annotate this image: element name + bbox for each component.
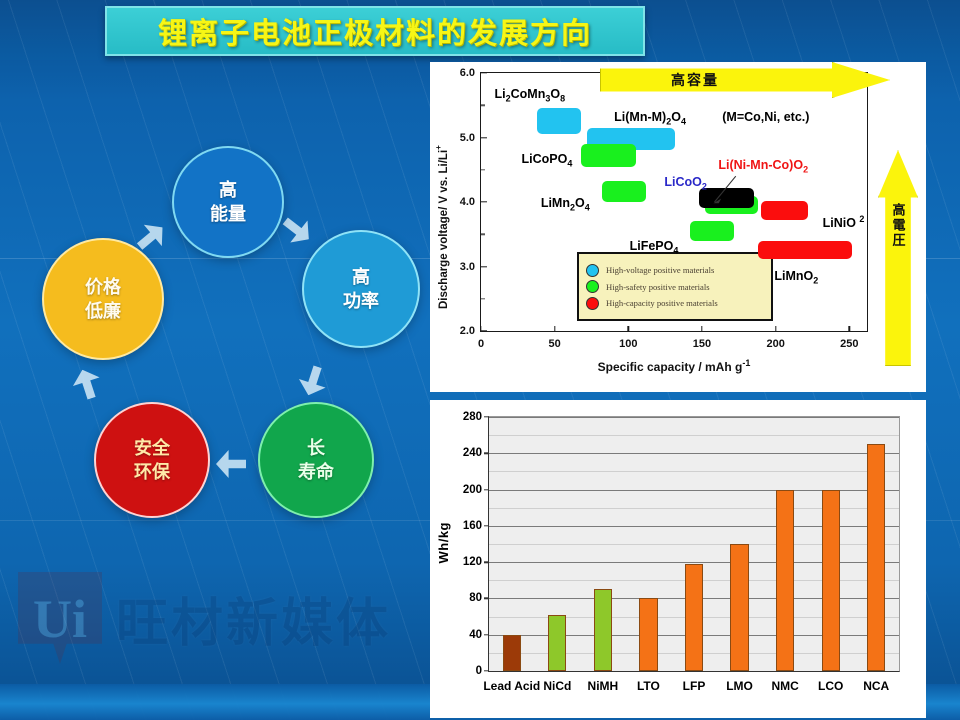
bar-gridline-minor — [489, 435, 899, 436]
arrow-power-to-life-icon — [295, 362, 331, 399]
scatter-point-label: LiMnO2 — [774, 269, 818, 286]
scatter-x-axis-label: Specific capacity / mAh g-1 — [480, 358, 868, 374]
cycle-node-high-power[interactable]: 高 功率 — [302, 230, 420, 348]
bar-y-tick-mark — [484, 453, 489, 454]
legend-label: High-voltage positive materials — [606, 265, 714, 275]
bar-x-tick-label: LMO — [726, 671, 753, 693]
page-title: 锂离子电池正极材料的发展方向 — [158, 10, 592, 52]
bar-y-tick-mark — [484, 416, 489, 417]
scatter-legend: High-voltage positive materialsHigh-safe… — [577, 252, 773, 321]
scatter-point-label: Li(Mn-M)2O4 — [614, 110, 686, 127]
bar-x-tick-label: LCO — [818, 671, 843, 693]
scatter-y-tick-mark-minor — [481, 234, 485, 235]
scatter-x-tick-label: 200 — [766, 331, 784, 350]
scatter-block-5 — [699, 188, 754, 209]
scatter-y-tick-mark-minor — [481, 169, 485, 170]
scatter-x-tick-mark — [554, 326, 555, 331]
bar-x-tick-label: NMC — [771, 671, 798, 693]
scatter-x-tick-label: 50 — [549, 331, 561, 350]
scatter-x-tick-label: 0 — [478, 331, 484, 350]
cycle-node-safety-eco-line1: 安全 — [134, 436, 170, 460]
slide-title-bar: 锂离子电池正极材料的发展方向 — [105, 6, 645, 56]
bar-x-tick-label: NiMH — [588, 671, 619, 693]
bar-x-tick-label: NCA — [863, 671, 889, 693]
scatter-point-label: (M=Co,Ni, etc.) — [722, 110, 809, 124]
scatter-plot-area: 6.05.04.03.02.0050100150200250Li2CoMn3O8… — [480, 72, 868, 332]
bar-column — [776, 490, 794, 671]
legend-color-dot — [586, 297, 599, 310]
scatter-point-label: LiMn2O4 — [541, 196, 590, 213]
bar-gridline — [489, 453, 899, 454]
bar-y-tick-mark — [484, 561, 489, 562]
bar-x-tick-label: Lead Acid — [483, 671, 540, 693]
scatter-x-tick-mark — [480, 326, 481, 331]
scatter-point-label: LiCoPO4 — [522, 152, 573, 169]
arrow-life-to-safety-icon — [216, 450, 246, 478]
bar-plot-area: 04080120160200240280Lead AcidNiCdNiMHLTO… — [488, 416, 900, 672]
bar-column — [503, 635, 521, 671]
bar-column — [730, 544, 748, 671]
scatter-y-tick-mark — [481, 137, 487, 138]
bar-gridline — [489, 417, 899, 418]
cycle-node-safety-eco-line2: 环保 — [134, 460, 170, 484]
scatter-block-2 — [581, 144, 636, 167]
scatter-x-tick-label: 150 — [693, 331, 711, 350]
cycle-node-long-life-line2: 寿命 — [298, 460, 334, 484]
scatter-x-tick-mark — [849, 326, 850, 331]
scatter-x-tick-mark — [701, 326, 702, 331]
high-capacity-arrow-label: 高容量 — [671, 70, 719, 90]
scatter-y-tick-mark-minor — [481, 298, 485, 299]
scatter-y-tick-label: 6.0 — [460, 67, 481, 79]
high-voltage-arrow: 高電圧 — [878, 150, 918, 366]
bar-x-tick-label: LFP — [683, 671, 706, 693]
high-voltage-arrow-label: 高電圧 — [889, 203, 908, 248]
scatter-point-label: LiNiO 2 — [823, 214, 865, 230]
bar-column — [639, 598, 657, 671]
bar-column — [822, 490, 840, 671]
energy-density-chart-panel: Wh/kg 04080120160200240280Lead AcidNiCdN… — [430, 400, 926, 718]
bar-column — [867, 444, 885, 671]
cycle-node-low-price-line2: 低廉 — [85, 299, 121, 323]
requirements-cycle-diagram: 高 能量 高 功率 长 寿命 安全 环保 价格 低廉 — [10, 130, 430, 530]
cycle-node-long-life-line1: 长 — [307, 436, 325, 460]
cycle-node-low-price-line1: 价格 — [85, 275, 121, 299]
bar-column — [685, 564, 703, 671]
scatter-y-tick-mark — [481, 201, 487, 202]
legend-color-dot — [586, 280, 599, 293]
bar-y-tick-mark — [484, 598, 489, 599]
legend-item: High-capacity positive materials — [586, 297, 764, 310]
scatter-point-label: Li(Ni-Mn-Co)O2 — [718, 158, 808, 175]
cycle-node-safety-eco[interactable]: 安全 环保 — [94, 402, 210, 518]
scatter-y-tick-label: 5.0 — [460, 132, 481, 144]
cycle-node-long-life[interactable]: 长 寿命 — [258, 402, 374, 518]
bar-column — [548, 615, 566, 671]
scatter-y-axis-label: Discharge voltage/ V vs. Li/Li+ — [434, 102, 454, 352]
scatter-x-tick-label: 250 — [840, 331, 858, 350]
bar-gridline-minor — [489, 471, 899, 472]
bar-x-tick-label: NiCd — [543, 671, 571, 693]
legend-label: High-safety positive materials — [606, 282, 710, 292]
scatter-x-tick-mark — [628, 326, 629, 331]
cycle-node-high-energy-line2: 能量 — [210, 202, 246, 226]
scatter-block-3 — [602, 181, 646, 202]
bar-y-tick-mark — [484, 525, 489, 526]
cycle-node-high-energy[interactable]: 高 能量 — [172, 146, 284, 258]
legend-color-dot — [586, 264, 599, 277]
scatter-block-7 — [761, 201, 808, 220]
scatter-block-4 — [690, 221, 734, 240]
scatter-y-tick-label: 3.0 — [460, 261, 481, 273]
arrow-safety-to-price-icon — [69, 365, 105, 402]
bar-y-tick-mark — [484, 489, 489, 490]
cycle-node-low-price[interactable]: 价格 低廉 — [42, 238, 164, 360]
scatter-x-tick-label: 100 — [619, 331, 637, 350]
scatter-y-tick-label: 4.0 — [460, 196, 481, 208]
scatter-x-tick-mark — [775, 326, 776, 331]
scatter-block-0 — [537, 108, 581, 134]
cycle-node-high-power-line2: 功率 — [343, 289, 379, 313]
arrow-energy-to-power-icon — [277, 210, 318, 251]
legend-item: High-voltage positive materials — [586, 264, 764, 277]
legend-label: High-capacity positive materials — [606, 298, 718, 308]
scatter-point-label: Li2CoMn3O8 — [495, 87, 566, 104]
scatter-point-label: LiCoO2 — [664, 175, 707, 192]
scatter-y-tick-mark-minor — [481, 105, 485, 106]
scatter-block-8 — [758, 241, 852, 259]
bar-x-tick-label: LTO — [637, 671, 660, 693]
scatter-point-label: LiFePO4 — [630, 239, 679, 256]
cathode-material-map-panel: Discharge voltage/ V vs. Li/Li+ 6.05.04.… — [430, 62, 926, 392]
scatter-y-tick-mark — [481, 266, 487, 267]
bar-column — [594, 589, 612, 671]
cycle-node-high-power-line1: 高 — [352, 265, 370, 289]
scatter-y-tick-mark — [481, 72, 487, 73]
bar-y-axis-label: Wh/kg — [436, 522, 451, 564]
bar-y-tick-mark — [484, 634, 489, 635]
legend-item: High-safety positive materials — [586, 280, 764, 293]
cycle-node-high-energy-line1: 高 — [219, 178, 237, 202]
